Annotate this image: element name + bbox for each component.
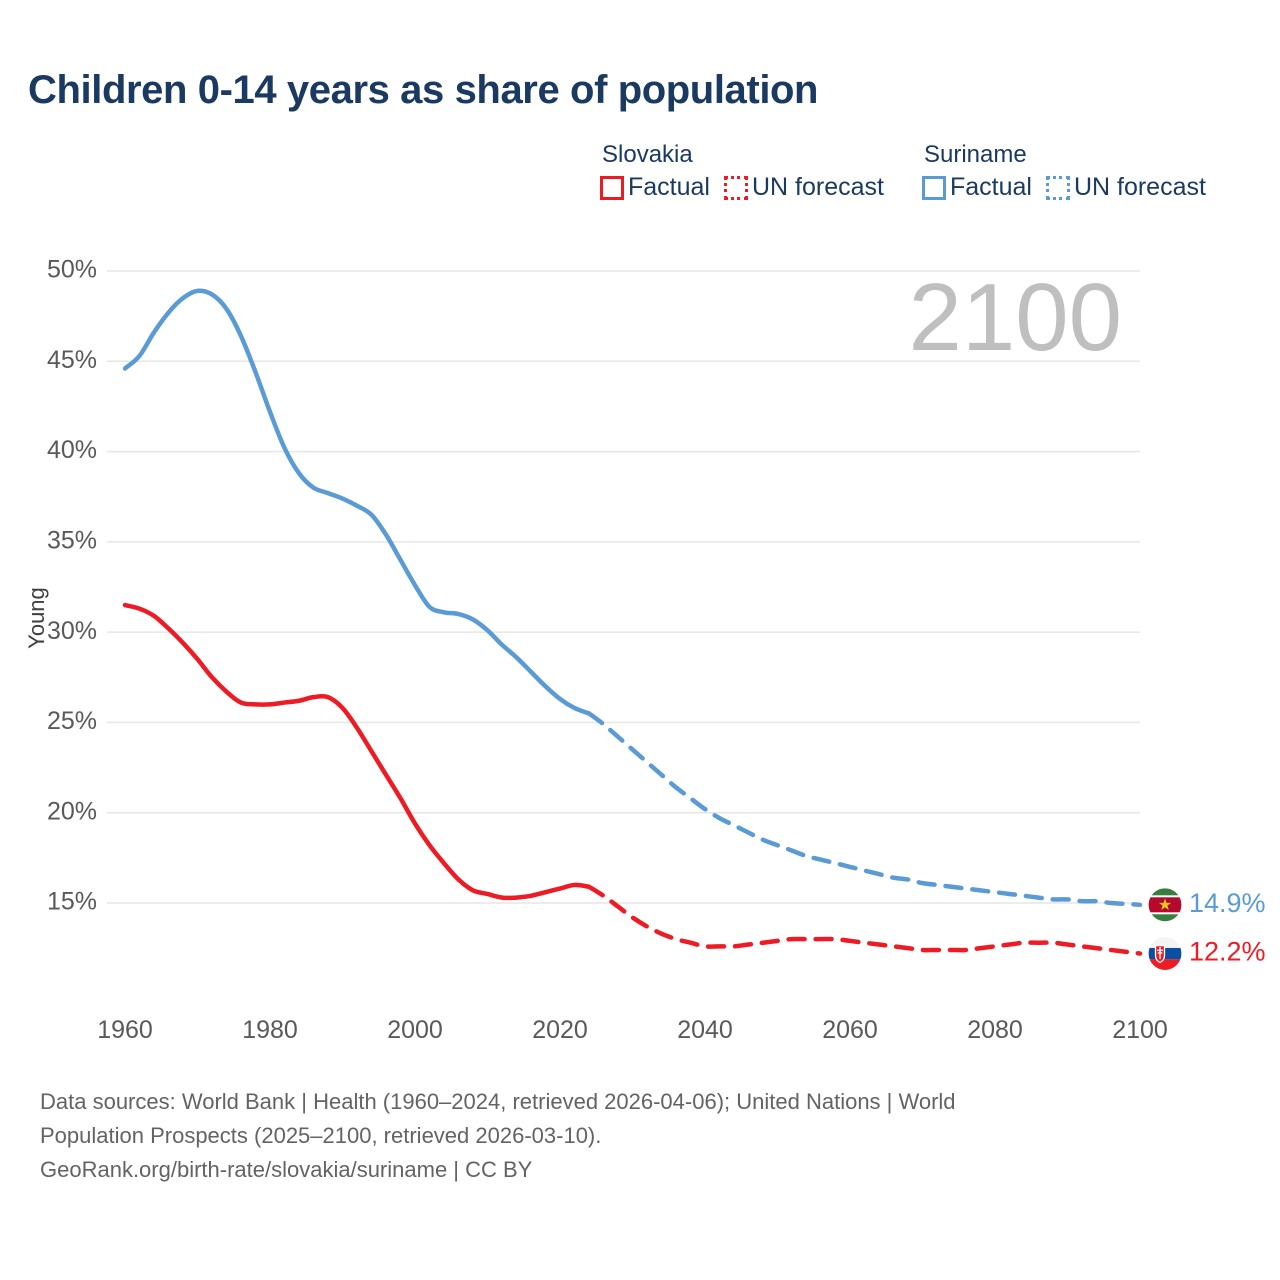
x-tick-label: 1960: [97, 1016, 153, 1040]
series-line-forecast-slovakia: [589, 887, 1140, 954]
x-tick-label: 2020: [532, 1016, 588, 1040]
series-line-forecast-suriname: [589, 713, 1140, 904]
y-tick-label: 45%: [47, 346, 97, 374]
suriname-flag-icon: [1148, 888, 1182, 922]
y-tick-label: 40%: [47, 436, 97, 464]
y-axis-title: Young: [24, 587, 49, 649]
y-tick-label: 25%: [47, 707, 97, 735]
y-tick-label: 30%: [47, 617, 97, 645]
y-tick-label: 50%: [47, 256, 97, 284]
footer-line-2: Population Prospects (2025–2100, retriev…: [40, 1119, 1220, 1153]
y-axis-ticks: 15%20%25%30%35%40%45%50%: [47, 256, 97, 916]
y-tick-label: 20%: [47, 797, 97, 825]
end-value-slovakia: 12.2%: [1189, 937, 1266, 967]
footer-sources: Data sources: World Bank | Health (1960–…: [40, 1085, 1220, 1187]
y-tick-label: 35%: [47, 526, 97, 554]
series-paths: [125, 291, 1140, 954]
footer-line-3[interactable]: GeoRank.org/birth-rate/slovakia/suriname…: [40, 1153, 1220, 1187]
x-tick-label: 2100: [1112, 1016, 1168, 1040]
chart-root: Children 0-14 years as share of populati…: [0, 0, 1280, 1280]
watermark-year: 2100: [908, 264, 1122, 371]
plot-area: 15%20%25%30%35%40%45%50% 196019802000202…: [0, 0, 1280, 1040]
end-marker-suriname[interactable]: 14.9%: [1148, 888, 1266, 922]
end-value-suriname: 14.9%: [1189, 888, 1266, 918]
y-tick-label: 15%: [47, 888, 97, 916]
x-tick-label: 2080: [967, 1016, 1023, 1040]
x-tick-label: 1980: [242, 1016, 298, 1040]
series-line-factual-suriname: [125, 291, 589, 714]
end-marker-slovakia[interactable]: 12.2%: [1148, 937, 1266, 971]
x-tick-label: 2040: [677, 1016, 733, 1040]
line-chart-svg: 15%20%25%30%35%40%45%50% 196019802000202…: [0, 0, 1280, 1040]
x-axis-ticks: 19601980200020202040206020802100: [97, 1016, 1168, 1040]
footer-line-1: Data sources: World Bank | Health (1960–…: [40, 1085, 1220, 1119]
series-line-factual-slovakia: [125, 605, 589, 898]
slovakia-flag-icon: [1148, 937, 1182, 971]
x-tick-label: 2000: [387, 1016, 443, 1040]
x-tick-label: 2060: [822, 1016, 878, 1040]
